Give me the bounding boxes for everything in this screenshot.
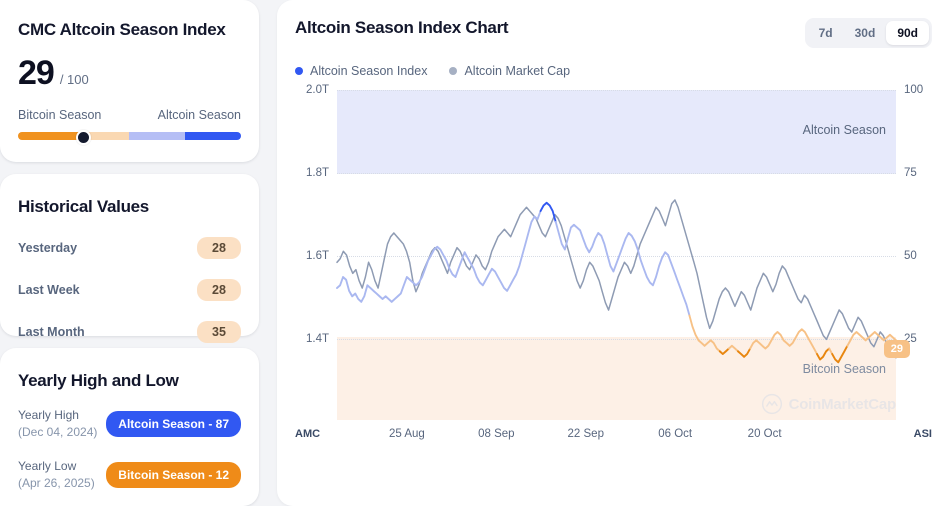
current-value-badge: 29 <box>884 340 910 358</box>
y-axis-right-tick: 50 <box>904 250 917 262</box>
bitcoin-season-label: Bitcoin Season <box>18 108 101 122</box>
slider-segment-altcoin <box>185 132 241 140</box>
range-button-30d[interactable]: 30d <box>844 21 887 45</box>
slider-knob[interactable] <box>76 130 91 145</box>
yearly-high-label: Yearly High (Dec 04, 2024) <box>18 407 97 442</box>
history-value-badge: 28 <box>197 237 241 259</box>
time-range-selector[interactable]: 7d 30d 90d <box>805 18 932 48</box>
y-axis-left-tick: 1.4T <box>306 333 329 345</box>
chart-legend: Altcoin Season Index Altcoin Market Cap <box>295 64 932 78</box>
chart-plot[interactable]: Altcoin Season Bitcoin Season 2.0T 1.8T … <box>337 90 896 420</box>
yearly-high-low-card: Yearly High and Low Yearly High (Dec 04,… <box>0 348 259 506</box>
list-item: Yearly Low (Apr 26, 2025) Bitcoin Season… <box>18 458 241 493</box>
slider-segment-altcoin-light <box>129 132 185 140</box>
history-value-badge: 28 <box>197 279 241 301</box>
legend-item-index[interactable]: Altcoin Season Index <box>295 64 427 78</box>
yearly-high-badge: Altcoin Season - 87 <box>106 411 241 437</box>
index-score: 29 / 100 <box>18 56 241 90</box>
y-axis-right-name: ASI <box>914 428 932 440</box>
x-axis-tick: 06 Oct <box>658 428 692 440</box>
y-axis-left-tick: 2.0T <box>306 84 329 96</box>
y-axis-left-tick: 1.6T <box>306 250 329 262</box>
range-button-7d[interactable]: 7d <box>808 21 844 45</box>
chart-title: Altcoin Season Index Chart <box>295 18 508 38</box>
yearly-low-badge: Bitcoin Season - 12 <box>106 462 241 488</box>
chart-lines <box>337 90 896 420</box>
slider-track <box>18 132 241 140</box>
history-label: Last Week <box>18 283 80 297</box>
chart-panel: Altcoin Season Index Chart 7d 30d 90d Al… <box>277 0 950 506</box>
history-value-badge: 35 <box>197 321 241 343</box>
historical-values-card: Historical Values Yesterday 28 Last Week… <box>0 174 259 336</box>
history-label: Yesterday <box>18 241 77 255</box>
list-item: Last Month 35 <box>18 321 241 343</box>
index-summary-card: CMC Altcoin Season Index 29 / 100 Bitcoi… <box>0 0 259 162</box>
y-axis-right-tick: 100 <box>904 84 923 96</box>
list-item: Last Week 28 <box>18 279 241 301</box>
legend-dot-icon <box>295 67 303 75</box>
legend-dot-icon <box>449 67 457 75</box>
season-scale-labels: Bitcoin Season Altcoin Season <box>18 108 241 122</box>
legend-item-marketcap[interactable]: Altcoin Market Cap <box>449 64 570 78</box>
index-denominator: / 100 <box>60 72 89 87</box>
yearly-low-date: (Apr 26, 2025) <box>18 475 95 492</box>
x-axis-labels: 25 Aug 08 Sep 22 Sep 06 Oct 20 Oct <box>337 428 896 448</box>
legend-label: Altcoin Season Index <box>310 64 427 78</box>
x-axis-tick: 20 Oct <box>748 428 782 440</box>
list-item: Yearly High (Dec 04, 2024) Altcoin Seaso… <box>18 407 241 442</box>
y-axis-left-name: AMC <box>295 428 320 440</box>
yearly-high-low-title: Yearly High and Low <box>18 371 241 391</box>
x-axis-tick: 08 Sep <box>478 428 514 440</box>
yearly-low-label: Yearly Low (Apr 26, 2025) <box>18 458 95 493</box>
slider-segment-bitcoin <box>18 132 83 140</box>
page-title: CMC Altcoin Season Index <box>18 20 241 40</box>
yearly-high-name: Yearly High <box>18 407 97 424</box>
y-axis-left-tick: 1.8T <box>306 167 329 179</box>
season-slider[interactable] <box>18 132 241 144</box>
chart-header: Altcoin Season Index Chart 7d 30d 90d <box>295 0 932 48</box>
altcoin-season-page: CMC Altcoin Season Index 29 / 100 Bitcoi… <box>0 0 950 506</box>
range-button-90d[interactable]: 90d <box>886 21 929 45</box>
index-value: 29 <box>18 56 54 90</box>
altcoin-season-label: Altcoin Season <box>158 108 241 122</box>
yearly-low-name: Yearly Low <box>18 458 95 475</box>
left-column: CMC Altcoin Season Index 29 / 100 Bitcoi… <box>0 0 277 506</box>
legend-label: Altcoin Market Cap <box>464 64 570 78</box>
x-axis-tick: 22 Sep <box>568 428 604 440</box>
list-item: Yesterday 28 <box>18 237 241 259</box>
x-axis-tick: 25 Aug <box>389 428 425 440</box>
historical-values-title: Historical Values <box>18 197 241 217</box>
history-label: Last Month <box>18 325 85 339</box>
yearly-high-date: (Dec 04, 2024) <box>18 424 97 441</box>
chart-area[interactable]: Altcoin Season Bitcoin Season 2.0T 1.8T … <box>295 90 932 450</box>
y-axis-right-tick: 75 <box>904 167 917 179</box>
